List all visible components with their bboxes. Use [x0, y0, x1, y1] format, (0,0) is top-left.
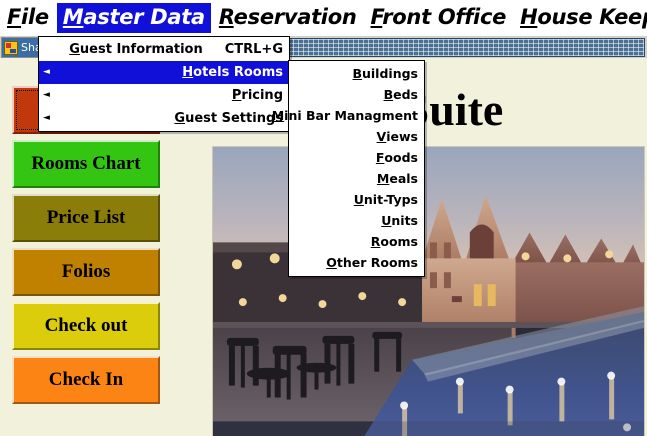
submenu-item-meals[interactable]: Meals — [289, 168, 424, 189]
sidebar-item-rooms-chart[interactable]: Rooms Chart — [12, 140, 160, 188]
submenu-arrow-icon: ◄ — [43, 91, 53, 100]
sidebar-buttons: Reservation Rooms Chart Price List Folio… — [12, 86, 160, 410]
sidebar-item-check-out[interactable]: Check out — [12, 302, 160, 350]
menu-item-label: Hotels Rooms — [53, 65, 283, 80]
menu-item-guest-information[interactable]: Guest Information CTRL+G — [39, 38, 289, 61]
menu-house-keeping[interactable]: House Keeping — [514, 3, 647, 33]
menu-master-data[interactable]: Master Data — [57, 3, 211, 33]
submenu-arrow-icon: ◄ — [43, 68, 53, 77]
application-icon — [4, 41, 18, 55]
sidebar-item-price-list[interactable]: Price List — [12, 194, 160, 242]
submenu-item-rooms[interactable]: Rooms — [289, 231, 424, 252]
hotels-rooms-submenu: Buildings Beds Mini Bar Managment Views … — [288, 60, 425, 277]
submenu-item-views[interactable]: Views — [289, 126, 424, 147]
menu-master-data-dropdown: Guest Information CTRL+G ◄ Hotels Rooms … — [38, 36, 290, 132]
submenu-item-other-rooms[interactable]: Other Rooms — [289, 252, 424, 273]
menu-item-pricing[interactable]: ◄ Pricing — [39, 84, 289, 107]
sidebar-item-label: Check In — [49, 369, 123, 391]
sidebar-item-label: Rooms Chart — [31, 153, 140, 175]
submenu-item-mini-bar-managment[interactable]: Mini Bar Managment — [289, 105, 424, 126]
menu-item-label: Guest Settings — [53, 111, 283, 126]
menu-front-office[interactable]: Front Office — [365, 3, 513, 33]
sidebar-item-label: Folios — [62, 261, 111, 283]
menu-item-label: Guest Information — [53, 42, 203, 57]
application-window: Sha Rooms Suite — [0, 0, 647, 436]
hotel-photo — [212, 146, 645, 436]
submenu-item-beds[interactable]: Beds — [289, 84, 424, 105]
menu-item-hotels-rooms[interactable]: ◄ Hotels Rooms — [39, 61, 289, 84]
submenu-item-units[interactable]: Units — [289, 210, 424, 231]
menu-item-shortcut: CTRL+G — [225, 42, 283, 57]
window-caption-pattern — [287, 38, 645, 57]
menu-file[interactable]: File — [1, 3, 55, 33]
sidebar-item-label: Check out — [45, 315, 128, 337]
submenu-item-buildings[interactable]: Buildings — [289, 63, 424, 84]
submenu-item-unit-typs[interactable]: Unit-Typs — [289, 189, 424, 210]
menu-item-guest-settings[interactable]: ◄ Guest Settings — [39, 107, 289, 130]
hotel-photo-graphic — [213, 147, 644, 436]
menu-bar: File Master Data Reservation Front Offic… — [0, 0, 647, 36]
menu-item-label: Pricing — [53, 88, 283, 103]
sidebar-item-folios[interactable]: Folios — [12, 248, 160, 296]
submenu-item-foods[interactable]: Foods — [289, 147, 424, 168]
menu-reservation[interactable]: Reservation — [213, 3, 363, 33]
submenu-arrow-icon: ◄ — [43, 114, 53, 123]
sidebar-item-check-in[interactable]: Check In — [12, 356, 160, 404]
sidebar-item-label: Price List — [47, 207, 126, 229]
